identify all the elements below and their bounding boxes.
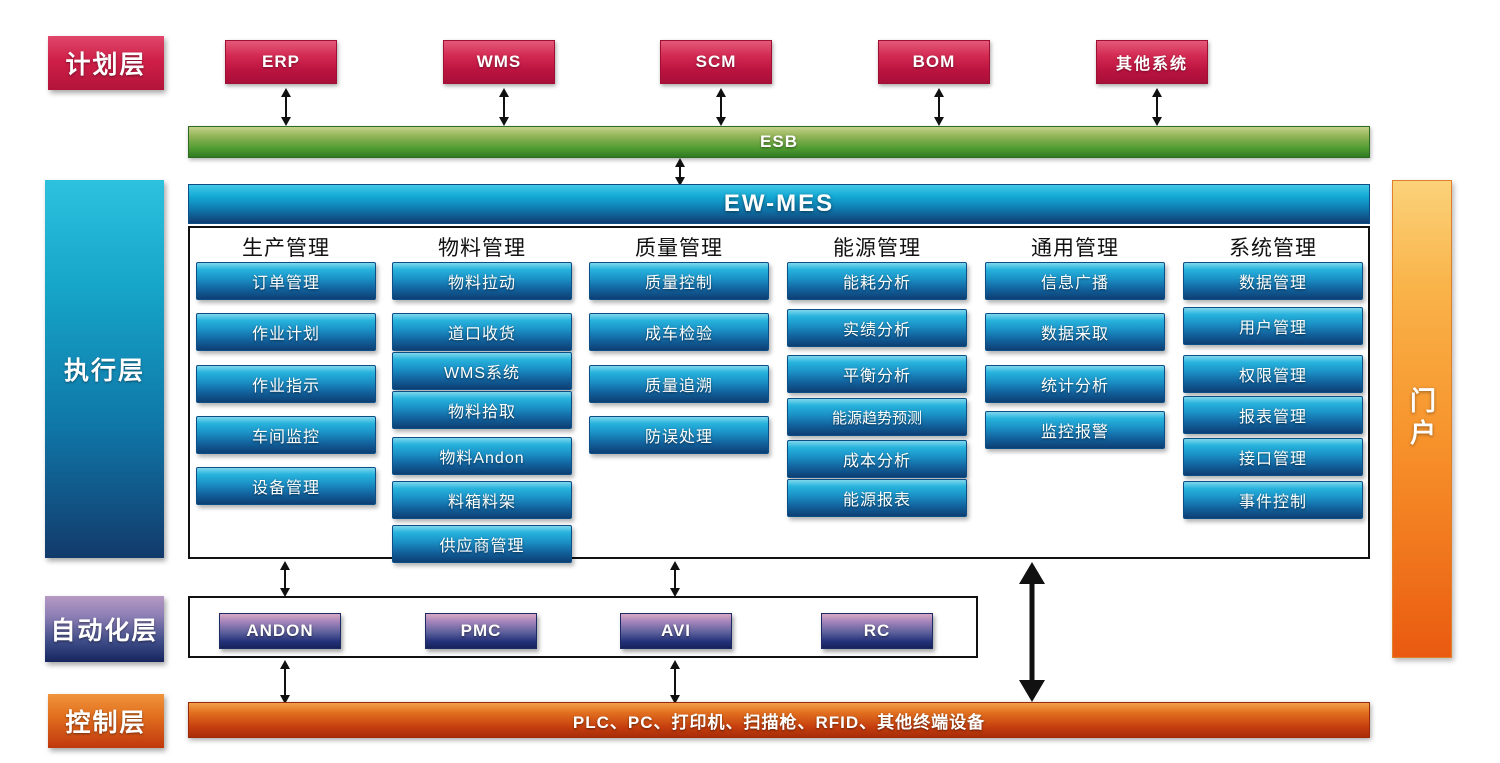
mes-header: EW-MES [188,184,1370,224]
module-item-statistical-analysis[interactable]: 统计分析 [985,365,1165,403]
connector-execution-automation-left [275,561,295,597]
module-item-balance-analysis[interactable]: 平衡分析 [787,355,967,393]
module-item-bin-rack[interactable]: 料箱料架 [392,481,572,519]
module-item-quality-control[interactable]: 质量控制 [589,262,769,300]
module-item-energy-trend-forecast[interactable]: 能源趋势预测 [787,398,967,436]
layer-label-execution: 执行层 [45,180,164,558]
connector-esb-mes [670,158,690,186]
module-item-report-management[interactable]: 报表管理 [1183,396,1363,434]
module-item-data-acquisition[interactable]: 数据采取 [985,313,1165,351]
connector-wms-esb [494,88,514,126]
module-item-material-pull[interactable]: 物料拉动 [392,262,572,300]
portal-panel[interactable]: 门户 [1392,180,1452,658]
module-item-order-management[interactable]: 订单管理 [196,262,376,300]
module-item-interface-management[interactable]: 接口管理 [1183,438,1363,476]
module-item-info-broadcast[interactable]: 信息广播 [985,262,1165,300]
module-item-gate-receiving[interactable]: 道口收货 [392,313,572,351]
module-item-permission-management[interactable]: 权限管理 [1183,355,1363,393]
module-item-energy-consumption-analysis[interactable]: 能耗分析 [787,262,967,300]
system-box-bom[interactable]: BOM [878,40,990,84]
module-item-performance-analysis[interactable]: 实绩分析 [787,309,967,347]
system-box-erp[interactable]: ERP [225,40,337,84]
module-item-job-instruction[interactable]: 作业指示 [196,365,376,403]
connector-scm-esb [711,88,731,126]
automation-box-rc[interactable]: RC [821,613,933,649]
module-item-supplier-management[interactable]: 供应商管理 [392,525,572,563]
module-item-wms-system[interactable]: WMS系统 [392,352,572,390]
connector-other-esb [1147,88,1167,126]
automation-box-avi[interactable]: AVI [620,613,732,649]
system-box-wms[interactable]: WMS [443,40,555,84]
module-item-data-management[interactable]: 数据管理 [1183,262,1363,300]
connector-execution-control [1012,562,1052,702]
module-item-material-picking[interactable]: 物料拾取 [392,391,572,429]
module-item-user-management[interactable]: 用户管理 [1183,307,1363,345]
module-item-job-plan[interactable]: 作业计划 [196,313,376,351]
layer-label-control: 控制层 [48,694,164,748]
module-item-event-control[interactable]: 事件控制 [1183,481,1363,519]
module-item-material-andon[interactable]: 物料Andon [392,437,572,475]
connector-automation-control-center [665,660,685,704]
layer-label-automation: 自动化层 [45,596,164,662]
automation-box-pmc[interactable]: PMC [425,613,537,649]
module-item-cost-analysis[interactable]: 成本分析 [787,440,967,478]
module-column-title-production: 生产管理 [196,232,376,262]
system-box-scm[interactable]: SCM [660,40,772,84]
automation-box-andon[interactable]: ANDON [219,613,341,649]
connector-erp-esb [276,88,296,126]
module-item-workshop-monitor[interactable]: 车间监控 [196,416,376,454]
module-column-title-system: 系统管理 [1183,232,1363,262]
architecture-diagram: 计划层 执行层 自动化层 控制层 ERP WMS SCM BOM 其他系统 ES… [0,0,1500,763]
module-item-monitoring-alarm[interactable]: 监控报警 [985,411,1165,449]
layer-label-planning: 计划层 [48,36,164,90]
connector-automation-control-left [275,660,295,704]
module-column-title-energy: 能源管理 [787,232,967,262]
module-item-energy-report[interactable]: 能源报表 [787,479,967,517]
module-column-title-material: 物料管理 [392,232,572,262]
control-layer-bar: PLC、PC、打印机、扫描枪、RFID、其他终端设备 [188,702,1370,738]
portal-label: 门户 [1404,387,1441,451]
module-item-quality-trace[interactable]: 质量追溯 [589,365,769,403]
module-column-title-general: 通用管理 [985,232,1165,262]
connector-execution-automation-center [665,561,685,597]
module-item-error-prevention[interactable]: 防误处理 [589,416,769,454]
connector-bom-esb [929,88,949,126]
system-box-other[interactable]: 其他系统 [1096,40,1208,84]
module-item-equipment-management[interactable]: 设备管理 [196,467,376,505]
module-item-vehicle-inspection[interactable]: 成车检验 [589,313,769,351]
esb-bar: ESB [188,126,1370,158]
module-column-title-quality: 质量管理 [589,232,769,262]
